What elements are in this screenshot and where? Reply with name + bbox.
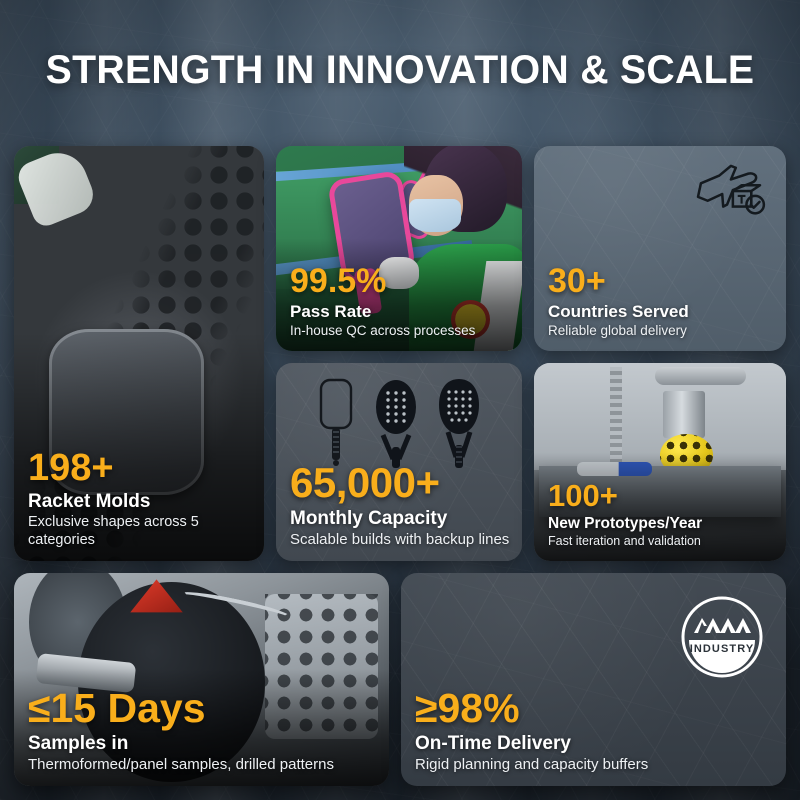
padel-racket-icon-a — [373, 377, 419, 469]
card-pass-rate[interactable]: 99.5% Pass Rate In-house QC across proce… — [276, 146, 522, 351]
stat-value: ≤15 Days — [28, 688, 377, 729]
stat-value: 100+ — [548, 480, 774, 511]
racket-silhouettes-icon — [276, 377, 522, 469]
stat-value: 99.5% — [290, 264, 510, 298]
stat-desc: Exclusive shapes across 5 categories — [28, 514, 252, 549]
card-countries-served[interactable]: 30+ Countries Served Reliable global del… — [534, 146, 786, 351]
padel-racket-icon-b — [436, 377, 482, 469]
stat-desc: Reliable global delivery — [548, 323, 774, 339]
stat-desc: Scalable builds with backup lines — [290, 531, 510, 549]
stat-label: On-Time Delivery — [415, 733, 774, 755]
card-on-time-delivery[interactable]: INDUSTRY ≥98% On-Time Delivery Rigid pla… — [401, 573, 786, 786]
card-text-block: ≤15 Days Samples in Thermoformed/panel s… — [28, 688, 377, 774]
stat-label: Monthly Capacity — [290, 508, 510, 530]
card-text-block: 100+ New Prototypes/Year Fast iteration … — [548, 480, 774, 549]
ama-wordmark — [694, 618, 751, 633]
logo-subtitle: INDUSTRY — [690, 643, 755, 655]
stat-label: Racket Molds — [28, 491, 252, 513]
card-text-block: 30+ Countries Served Reliable global del… — [548, 264, 774, 339]
stat-value: 198+ — [28, 449, 252, 487]
stat-desc: In-house QC across processes — [290, 323, 510, 339]
stat-value: 30+ — [548, 264, 774, 298]
stat-label: Samples in — [28, 733, 377, 755]
card-new-prototypes[interactable]: 100+ New Prototypes/Year Fast iteration … — [534, 363, 786, 561]
stat-value: 65,000+ — [290, 462, 510, 504]
stat-label: Countries Served — [548, 302, 774, 322]
card-text-block: ≥98% On-Time Delivery Rigid planning and… — [415, 688, 774, 774]
ama-industry-logo: INDUSTRY — [680, 595, 764, 679]
stat-desc: Fast iteration and validation — [548, 534, 774, 549]
card-text-block: 65,000+ Monthly Capacity Scalable builds… — [290, 462, 510, 549]
airplane-shipping-icon — [690, 162, 768, 224]
card-text-block: 99.5% Pass Rate In-house QC across proce… — [290, 264, 510, 339]
stat-label: New Prototypes/Year — [548, 515, 774, 533]
stat-desc: Rigid planning and capacity buffers — [415, 756, 774, 774]
stat-value: ≥98% — [415, 688, 774, 729]
card-samples-lead-time[interactable]: ≤15 Days Samples in Thermoformed/panel s… — [14, 573, 389, 786]
stats-card-grid: 198+ Racket Molds Exclusive shapes acros… — [0, 0, 800, 800]
card-racket-molds[interactable]: 198+ Racket Molds Exclusive shapes acros… — [14, 146, 264, 561]
pickleball-paddle-icon — [316, 377, 356, 469]
stat-label: Pass Rate — [290, 302, 510, 322]
stat-desc: Thermoformed/panel samples, drilled patt… — [28, 756, 377, 774]
card-text-block: 198+ Racket Molds Exclusive shapes acros… — [28, 449, 252, 549]
card-monthly-capacity[interactable]: 65,000+ Monthly Capacity Scalable builds… — [276, 363, 522, 561]
